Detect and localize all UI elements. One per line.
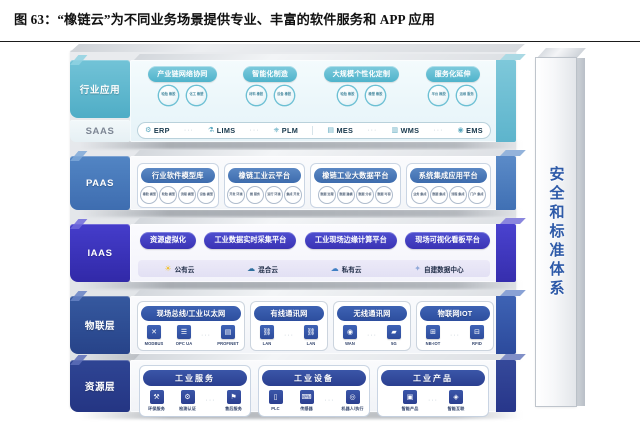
resource-card-title: 工业产品 (381, 370, 485, 386)
cloud-item-public[interactable]: ☀ 公有云 (164, 264, 194, 274)
resource-product-connected[interactable]: ◈ 智能互联 (443, 390, 469, 412)
industry-card-title: 服务化延伸 (426, 66, 480, 82)
resource-card-title: 工业服务 (143, 370, 247, 386)
industry-circle-group: 材料 橡胶 设备 橡胶 (247, 86, 294, 105)
ellipsis: ··· (367, 332, 377, 339)
resource-item-label: 环保服务 (148, 406, 165, 412)
lan-icon: ⛓ (304, 325, 318, 339)
layer-iot[interactable]: 现场总线/工业以太网 ✕ MODBUS ☰ OPC UA ··· ▤ (70, 296, 516, 354)
sidebar-item-label: PAAS (86, 178, 114, 189)
resource-item-label: 机器人/执行 (341, 406, 363, 412)
industry-circle[interactable]: 化工 橡塑 (187, 86, 206, 105)
iot-icon-group: ◉ WAN ··· ▰ 5G (337, 325, 407, 346)
iot-icon-group: ⛓ LAN ··· ⛓ LAN (254, 325, 324, 346)
paas-chip[interactable]: 门户 集成 (469, 187, 485, 203)
iaas-pill[interactable]: 现场可视化看板平台 (405, 232, 490, 249)
saas-item-wms[interactable]: ▥ WMS (391, 126, 419, 135)
paas-chip-group: 数据 治理 数据 建模 数据 分析 数据 可视 (314, 187, 396, 203)
iot-card-title: 无线通讯网 (337, 306, 407, 321)
paas-chip[interactable]: 轮胎 模型 (160, 187, 176, 203)
security-standards-pillar[interactable]: 安全和标准体系 (536, 58, 576, 406)
opcua-icon: ☰ (177, 325, 191, 339)
paas-chip-group: 开发 环境 微 服务 运行 环境 集成 开发 (228, 187, 302, 203)
iot-tech-label: NB-IOT (426, 341, 441, 346)
iot-card-title: 现场总线/工业以太网 (141, 306, 241, 321)
iot-card-title: 物联网IOT (420, 306, 490, 321)
layer-cap-top (500, 290, 526, 296)
ellipsis: ··· (433, 127, 443, 134)
iaas-pill[interactable]: 工业数据实时采集平台 (204, 232, 296, 249)
saas-item-plm[interactable]: ⎈ PLM (274, 126, 298, 135)
industry-card[interactable]: 智能化制造 材料 橡胶 设备 橡胶 (243, 66, 297, 105)
paas-card[interactable]: 橡链工业大数据平台 数据 治理 数据 建模 数据 分析 数据 可视 (311, 164, 399, 207)
layer-cap (496, 360, 516, 412)
saas-item-label: ERP (154, 126, 170, 135)
ellipsis: ··· (206, 397, 216, 404)
diagram-base-slab-top (70, 44, 525, 52)
cloud-item-label: 自建数据中心 (424, 264, 464, 274)
resource-service-env[interactable]: ⚒ 环保服务 (144, 390, 170, 412)
iot-network-label: LAN (307, 341, 316, 346)
figure-caption: 图 63：“橡链云”为不同业务场景提供专业、丰富的软件服务和 APP 应用 (0, 0, 640, 42)
profinet-icon: ▤ (221, 325, 235, 339)
paas-card-title: 橡链工业大数据平台 (314, 168, 396, 183)
industry-circle-group: 轮胎 橡胶 橡塑 橡胶 (338, 86, 385, 105)
sidebar-item-label: IAAS (87, 248, 112, 259)
layer-panel: 现场总线/工业以太网 ✕ MODBUS ☰ OPC UA ··· ▤ (130, 296, 516, 354)
resource-icon-group: ⚒ 环保服务 ⚙ 检测认证 ··· ⚑ 售后服务 (144, 390, 247, 412)
resource-icon-group: ▣ 智能产品 ··· ◈ 智能互联 (397, 390, 469, 412)
paas-chip[interactable]: 流程 集成 (450, 187, 466, 203)
resource-item-label: 检测认证 (179, 406, 196, 412)
plc-icon: ▯ (269, 390, 283, 404)
paas-chip[interactable]: 运行 环境 (266, 187, 282, 203)
paas-chip[interactable]: 业务 集成 (412, 187, 428, 203)
layer-cap-top (500, 150, 526, 156)
saas-item-label: EMS (466, 126, 483, 135)
resource-card[interactable]: 工业产品 ▣ 智能产品 ··· ◈ 智能互联 (378, 366, 488, 416)
iot-card[interactable]: 现场总线/工业以太网 ✕ MODBUS ☰ OPC UA ··· ▤ (138, 302, 244, 350)
sensor-icon: ⌨ (300, 390, 314, 404)
ellipsis: ··· (284, 332, 294, 339)
iot-icon-group: ⊞ NB-IOT ··· ⊟ RFID (420, 325, 490, 346)
resource-device-sensor[interactable]: ⌨ 传感器 (294, 390, 320, 412)
paas-chip[interactable]: 开发 环境 (228, 187, 244, 203)
iot-card[interactable]: 物联网IOT ⊞ NB-IOT ··· ⊟ RFID (417, 302, 493, 350)
layer-panel: 行业软件模型库 橡胶 模型 轮胎 模型 流程 模型 设备 模型 橡链工业云平台 … (130, 156, 516, 210)
erp-icon: ⚙ (145, 127, 151, 134)
saas-item-ems[interactable]: ◉ EMS (458, 126, 483, 135)
modbus-icon: ✕ (147, 325, 161, 339)
industry-card[interactable]: 大规模个性化定制 轮胎 橡胶 橡塑 橡胶 (324, 66, 400, 105)
resource-item-label: 传感器 (300, 406, 313, 412)
sidebar-item-label: 行业应用 (80, 82, 120, 96)
paas-chip[interactable]: 橡胶 模型 (141, 187, 157, 203)
layer-panel: 资源虚拟化 工业数据实时采集平台 工业现场边缘计算平台 现场可视化看板平台 ☀ … (130, 224, 516, 282)
industry-circle[interactable]: 橡塑 橡胶 (366, 86, 385, 105)
aftersales-icon: ⚑ (227, 390, 241, 404)
iot-tech-label: RFID (472, 341, 482, 346)
pillar-side-face (576, 58, 585, 406)
paas-chip-group: 业务 集成 数据 集成 流程 集成 门户 集成 (410, 187, 487, 203)
five-g-icon: ▰ (387, 325, 401, 339)
certification-icon: ⚙ (181, 390, 195, 404)
cloud-item-label: 私有云 (342, 264, 362, 274)
paas-chip[interactable]: 微 服务 (247, 187, 263, 203)
iot-card[interactable]: 有线通讯网 ⛓ LAN ··· ⛓ LAN (251, 302, 327, 350)
ellipsis: ··· (367, 127, 377, 134)
ellipsis: ··· (428, 397, 438, 404)
saas-item-label: PLM (282, 126, 298, 135)
saas-item-label: MES (336, 126, 353, 135)
connected-product-icon: ◈ (449, 390, 463, 404)
resource-service-aftersales[interactable]: ⚑ 售后服务 (221, 390, 247, 412)
paas-chip[interactable]: 设备 模型 (198, 187, 214, 203)
layer-cap (496, 296, 516, 354)
resource-service-cert[interactable]: ⚙ 检测认证 (175, 390, 201, 412)
iot-card-group: 现场总线/工业以太网 ✕ MODBUS ☰ OPC UA ··· ▤ (138, 302, 490, 350)
ellipsis: ··· (184, 127, 194, 134)
datacenter-icon: ✦ (414, 265, 421, 273)
industry-card-title: 大规模个性化定制 (324, 66, 400, 82)
industry-circle[interactable]: 设备 橡胶 (275, 86, 294, 105)
panel-top-face (134, 290, 526, 296)
iot-network-label: LAN (263, 341, 272, 346)
industry-card[interactable]: 服务化延伸 平台 橡胶 运维 服务 (426, 66, 480, 105)
layer-iaas[interactable]: 资源虚拟化 工业数据实时采集平台 工业现场边缘计算平台 现场可视化看板平台 ☀ … (70, 224, 516, 282)
caption-text: 图 63：“橡链云”为不同业务场景提供专业、丰富的软件服务和 APP 应用 (14, 9, 626, 28)
paas-chip[interactable]: 数据 可视 (376, 187, 392, 203)
cloud-item-datacenter[interactable]: ✦ 自建数据中心 (414, 264, 463, 274)
iot-tech-rfid[interactable]: ⊟ RFID (464, 325, 490, 346)
environment-service-icon: ⚒ (150, 390, 164, 404)
divider (312, 126, 313, 135)
iot-network-5g[interactable]: ▰ 5G (381, 325, 407, 346)
plm-icon: ⎈ (274, 127, 280, 134)
layer-shadow (80, 209, 522, 217)
ems-icon: ◉ (458, 127, 464, 134)
smart-product-icon: ▣ (403, 390, 417, 404)
paas-card-title: 橡链工业云平台 (228, 168, 302, 183)
industry-card-title: 智能化制造 (243, 66, 297, 82)
panel-top-face (134, 150, 526, 156)
layer-cap (496, 60, 516, 142)
panel-top-face (134, 354, 526, 360)
resource-card[interactable]: 工业服务 ⚒ 环保服务 ⚙ 检测认证 ··· ⚑ 售后服 (140, 366, 250, 416)
ellipsis: ··· (201, 332, 211, 339)
paas-chip[interactable]: 集成 开发 (285, 187, 301, 203)
industry-card-group: 产业链网络协同 轮胎 橡胶 化工 橡塑 智能化制造 材料 橡胶 设备 橡胶 大规… (138, 66, 490, 105)
iot-protocol-label: MODBUS (145, 341, 164, 346)
paas-card[interactable]: 橡链工业云平台 开发 环境 微 服务 运行 环境 集成 开发 (225, 164, 305, 207)
mes-icon: ▤ (327, 127, 334, 134)
iot-protocol-label: PROFINET (217, 341, 239, 346)
iot-network-label: 5G (391, 341, 397, 346)
cloud-item-label: 混合云 (258, 264, 278, 274)
resource-icon-group: ▯ PLC ⌨ 传感器 ··· ◎ 机器人/执行 (263, 390, 366, 412)
iot-protocol-opcua[interactable]: ☰ OPC UA (171, 325, 197, 346)
industry-circle[interactable]: 轮胎 橡胶 (159, 86, 178, 105)
cloud-item-label: 公有云 (175, 264, 195, 274)
iot-card-title: 有线通讯网 (254, 306, 324, 321)
lan-icon: ⛓ (260, 325, 274, 339)
industry-card-title: 产业链网络协同 (148, 66, 216, 82)
saas-item-mes[interactable]: ▤ MES (327, 126, 353, 135)
paas-card-title: 系统集成应用平台 (410, 168, 487, 183)
iot-protocol-profinet[interactable]: ▤ PROFINET (215, 325, 241, 346)
ellipsis: ··· (250, 127, 260, 134)
sidebar-item-label: 资源层 (85, 379, 115, 393)
iot-network-wan[interactable]: ◉ WAN (337, 325, 363, 346)
robot-icon: ◎ (346, 390, 360, 404)
iaas-pill[interactable]: 工业现场边缘计算平台 (305, 232, 397, 249)
iaas-pill-group: 资源虚拟化 工业数据实时采集平台 工业现场边缘计算平台 现场可视化看板平台 (140, 232, 490, 249)
resource-item-label: PLC (271, 406, 280, 411)
layer-panel: 工业服务 ⚒ 环保服务 ⚙ 检测认证 ··· ⚑ 售后服 (130, 360, 516, 412)
layer-cap (496, 224, 516, 282)
industry-circle-group: 轮胎 橡胶 化工 橡塑 (159, 86, 206, 105)
rfid-icon: ⊟ (470, 325, 484, 339)
sidebar-item-iot[interactable]: 物联层 (70, 296, 130, 354)
industry-circle[interactable]: 运维 服务 (457, 86, 476, 105)
cloud-item-hybrid[interactable]: ☁ 混合云 (247, 264, 278, 274)
sidebar-item-label: SAAS (86, 126, 115, 137)
layer-panel: 产业链网络协同 轮胎 橡胶 化工 橡塑 智能化制造 材料 橡胶 设备 橡胶 大规… (130, 60, 516, 142)
paas-chip[interactable]: 数据 集成 (431, 187, 447, 203)
resource-card-group: 工业服务 ⚒ 环保服务 ⚙ 检测认证 ··· ⚑ 售后服 (140, 366, 488, 416)
sidebar-item-iaas[interactable]: IAAS (70, 224, 130, 282)
ellipsis: ··· (325, 397, 335, 404)
paas-chip[interactable]: 数据 分析 (357, 187, 373, 203)
paas-card-group: 行业软件模型库 橡胶 模型 轮胎 模型 流程 模型 设备 模型 橡链工业云平台 … (138, 164, 490, 207)
resource-device-plc[interactable]: ▯ PLC (263, 390, 289, 411)
wms-icon: ▥ (391, 127, 398, 134)
iaas-pill[interactable]: 资源虚拟化 (140, 232, 196, 249)
lims-icon: ⚗ (208, 127, 214, 134)
iot-card[interactable]: 无线通讯网 ◉ WAN ··· ▰ 5G (334, 302, 410, 350)
paas-card[interactable]: 系统集成应用平台 业务 集成 数据 集成 流程 集成 门户 集成 (407, 164, 490, 207)
sidebar-item-resource[interactable]: 资源层 (70, 360, 130, 412)
iot-network-lan[interactable]: ⛓ LAN (298, 325, 324, 346)
layer-shadow (80, 141, 522, 149)
sidebar-item-industry-application[interactable]: 行业应用 (70, 60, 130, 118)
resource-product-smart[interactable]: ▣ 智能产品 (397, 390, 423, 412)
iot-tech-nbiot[interactable]: ⊞ NB-IOT (420, 325, 446, 346)
paas-card[interactable]: 行业软件模型库 橡胶 模型 轮胎 模型 流程 模型 设备 模型 (138, 164, 218, 207)
layer-industry-application[interactable]: 产业链网络协同 轮胎 橡胶 化工 橡塑 智能化制造 材料 橡胶 设备 橡胶 大规… (70, 60, 516, 142)
paas-chip[interactable]: 流程 模型 (179, 187, 195, 203)
cloud-deployment-strip: ☀ 公有云 ☁ 混合云 ☁ 私有云 ✦ 自建数据中心 (138, 260, 490, 277)
cloud-icon: ☁ (247, 265, 255, 273)
industry-circle[interactable]: 材料 橡胶 (247, 86, 266, 105)
resource-item-label: 智能互联 (448, 406, 465, 412)
industry-card[interactable]: 产业链网络协同 轮胎 橡胶 化工 橡塑 (148, 66, 216, 105)
iot-protocol-label: OPC UA (176, 341, 193, 346)
wan-icon: ◉ (343, 325, 357, 339)
saas-item-label: WMS (401, 126, 420, 135)
resource-device-robot[interactable]: ◎ 机器人/执行 (340, 390, 366, 412)
ellipsis: ··· (450, 332, 460, 339)
resource-item-label: 智能产品 (402, 406, 419, 412)
saas-item-lims[interactable]: ⚗ LIMS (208, 126, 235, 135)
paas-chip-group: 橡胶 模型 轮胎 模型 流程 模型 设备 模型 (141, 187, 215, 203)
industry-circle[interactable]: 平台 橡胶 (429, 86, 448, 105)
architecture-diagram: 产业链网络协同 轮胎 橡胶 化工 橡塑 智能化制造 材料 橡胶 设备 橡胶 大规… (0, 44, 640, 430)
sidebar-item-label: 物联层 (85, 318, 115, 332)
paas-chip[interactable]: 数据 建模 (338, 187, 354, 203)
saas-service-strip: ⚙ ERP ··· ⚗ LIMS ··· ⎈ PLM ▤ MES · (138, 123, 490, 138)
layer-cap-top (500, 54, 526, 60)
pillar-label: 安全和标准体系 (546, 166, 567, 299)
iot-icon-group: ✕ MODBUS ☰ OPC UA ··· ▤ PROFINET (141, 325, 241, 346)
iot-network-lan[interactable]: ⛓ LAN (254, 325, 280, 346)
sidebar-item-paas[interactable]: PAAS (70, 156, 130, 210)
sun-icon: ☀ (164, 265, 171, 273)
resource-item-label: 售后服务 (225, 406, 242, 412)
saas-item-label: LIMS (217, 126, 236, 135)
paas-card-title: 行业软件模型库 (141, 168, 215, 183)
layer-cap (496, 156, 516, 210)
layer-cap-top (500, 218, 526, 224)
cloud-icon: ☁ (331, 265, 339, 273)
layer-resource[interactable]: 工业服务 ⚒ 环保服务 ⚙ 检测认证 ··· ⚑ 售后服 (70, 360, 516, 412)
sidebar-item-saas[interactable]: SAAS (70, 120, 130, 142)
iot-protocol-modbus[interactable]: ✕ MODBUS (141, 325, 167, 346)
resource-card[interactable]: 工业设备 ▯ PLC ⌨ 传感器 ··· ◎ 机器人/执 (259, 366, 369, 416)
nbiot-icon: ⊞ (426, 325, 440, 339)
industry-circle-group: 平台 橡胶 运维 服务 (429, 86, 476, 105)
layer-shadow (80, 281, 522, 289)
resource-card-title: 工业设备 (262, 370, 366, 386)
cloud-item-private[interactable]: ☁ 私有云 (331, 264, 362, 274)
industry-circle[interactable]: 轮胎 橡胶 (338, 86, 357, 105)
panel-top-face (134, 54, 526, 60)
saas-item-erp[interactable]: ⚙ ERP (145, 126, 170, 135)
panel-top-face (134, 218, 526, 224)
layer-paas[interactable]: 行业软件模型库 橡胶 模型 轮胎 模型 流程 模型 设备 模型 橡链工业云平台 … (70, 156, 516, 210)
paas-chip[interactable]: 数据 治理 (319, 187, 335, 203)
iot-network-label: WAN (345, 341, 355, 346)
